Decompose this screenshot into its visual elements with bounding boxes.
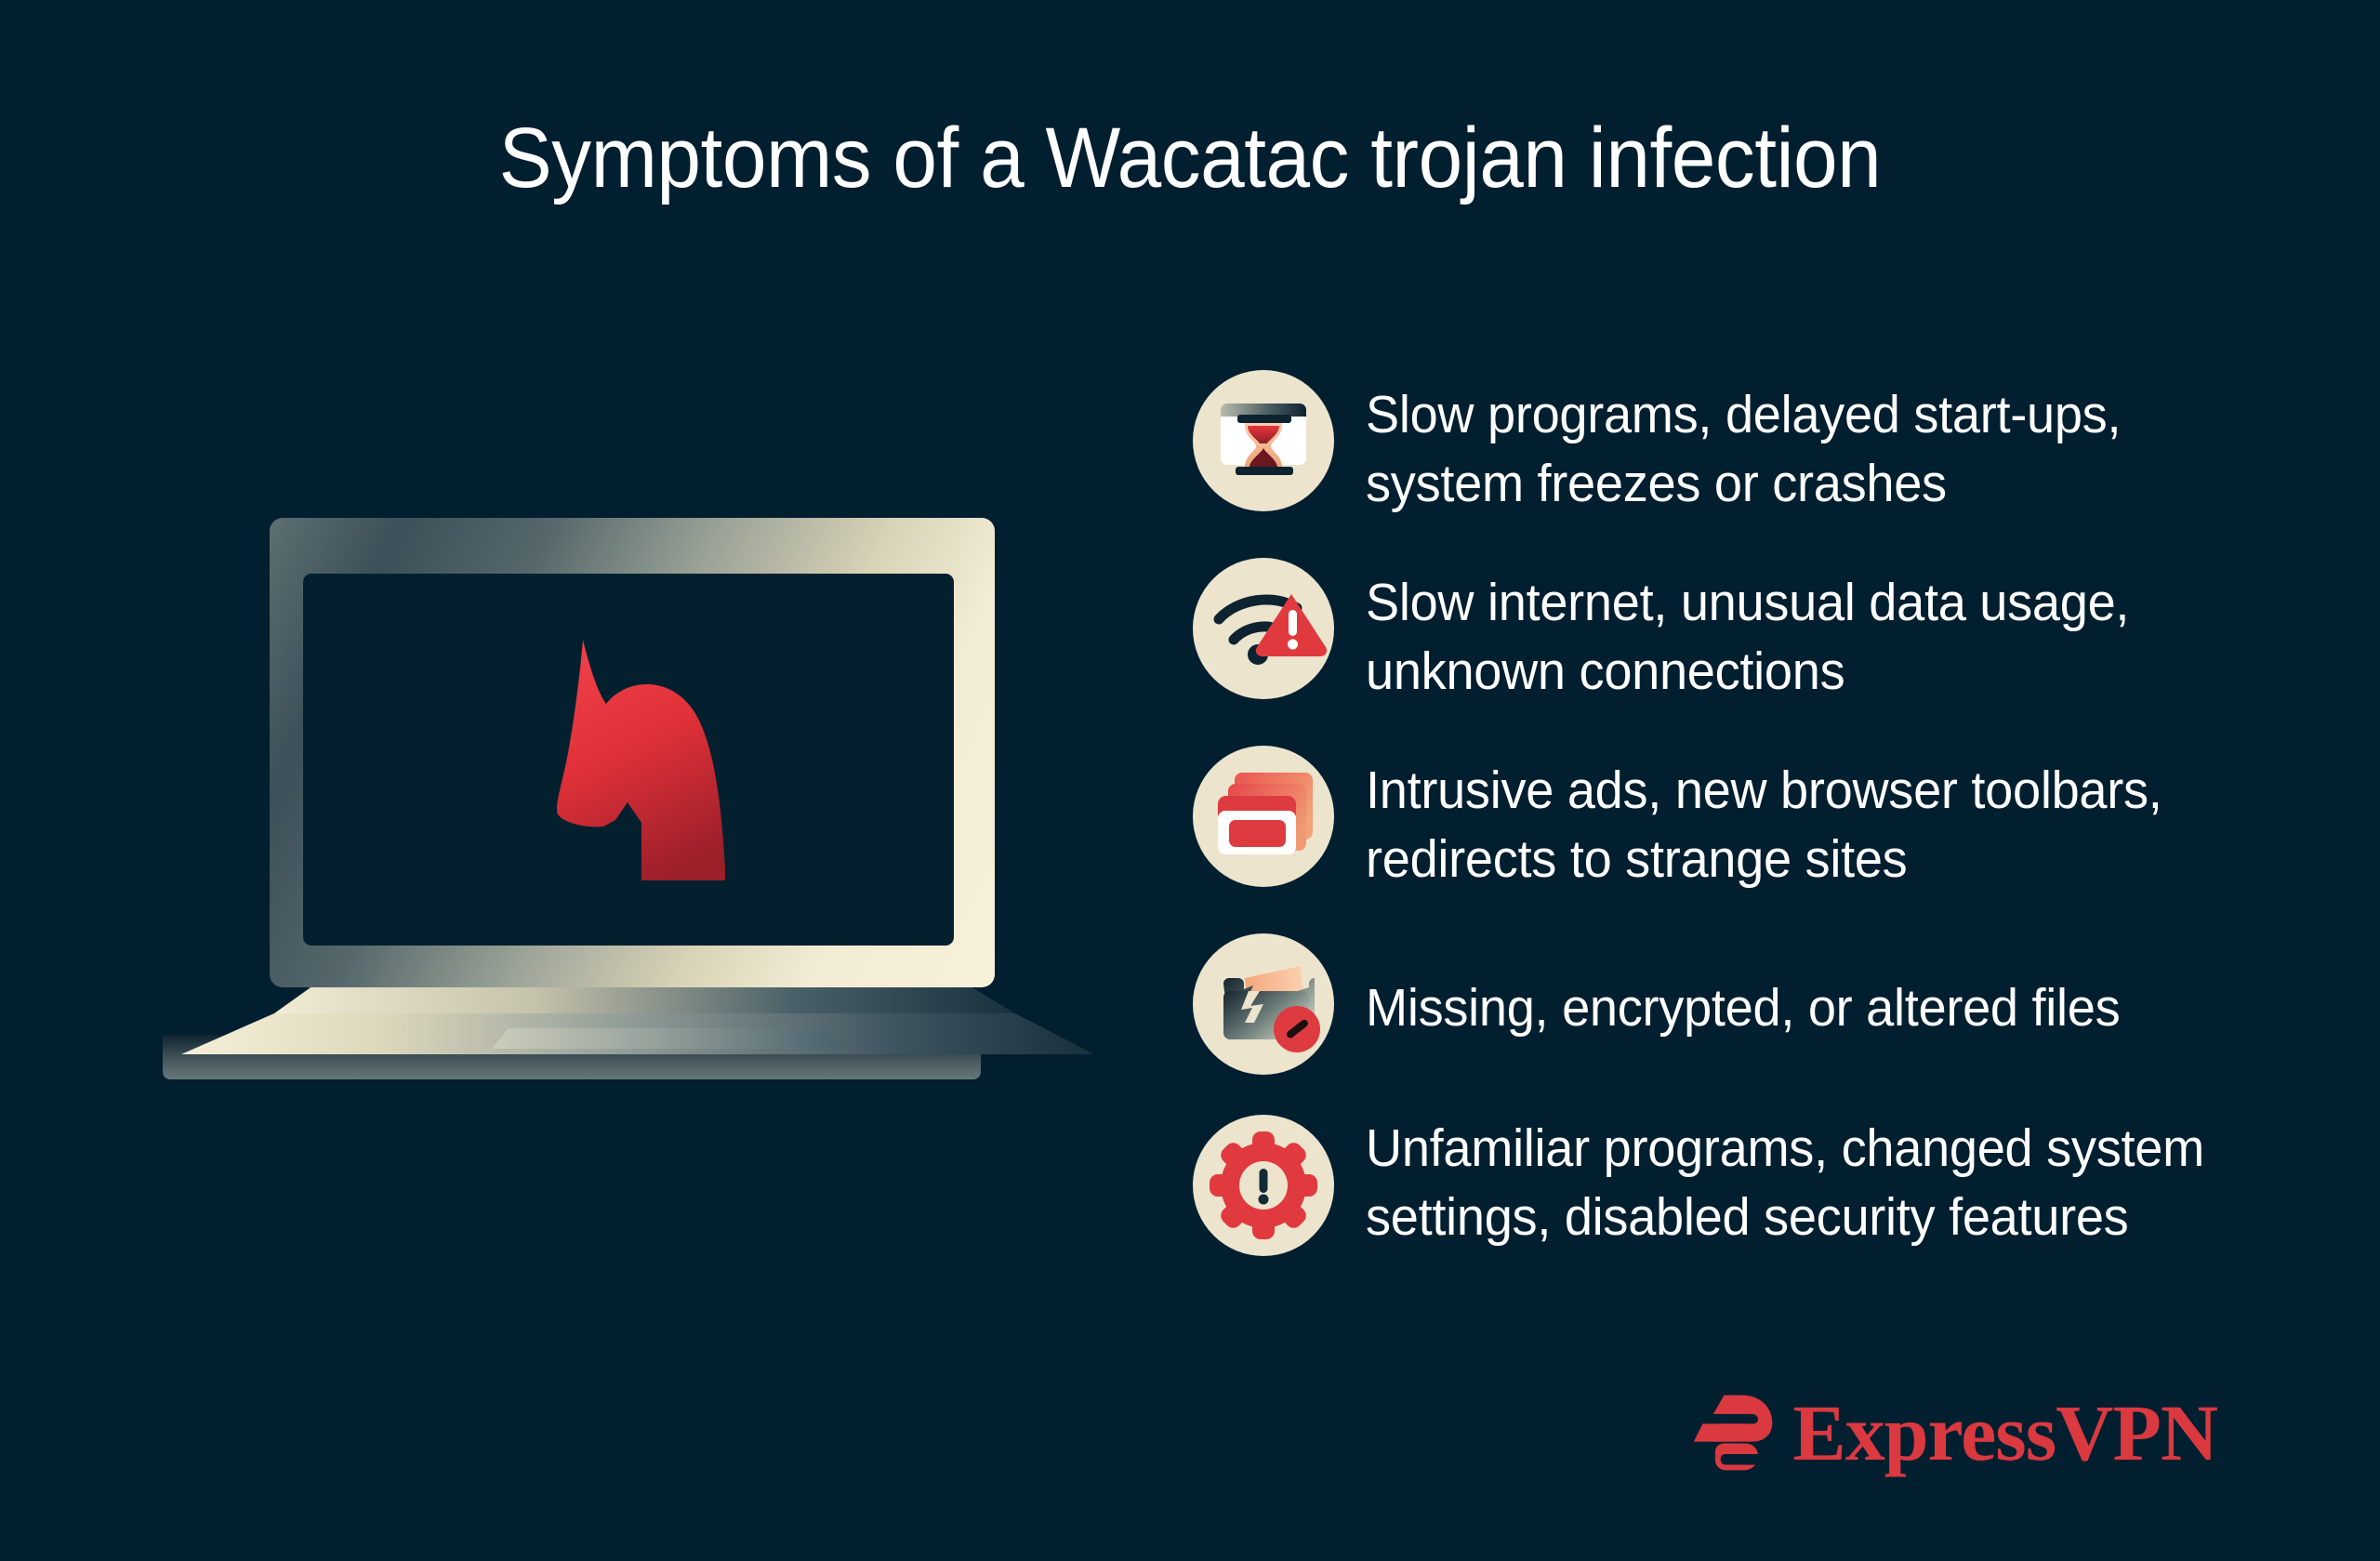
laptop-keyboard-deck (174, 986, 1094, 1055)
list-item-label: Slow programs, delayed start-ups, system… (1366, 370, 2243, 518)
gear-alert-icon (1193, 1115, 1334, 1256)
list-item: Intrusive ads, new browser toolbars, red… (1193, 746, 2290, 893)
laptop-screen (303, 574, 954, 946)
list-item: Slow internet, unusual data usage, unkno… (1193, 558, 2290, 706)
list-item-label: Missing, encrypted, or altered files (1366, 933, 2120, 1043)
list-item: Unfamiliar programs, changed system sett… (1193, 1115, 2290, 1256)
wifi-warning-icon (1193, 558, 1334, 699)
infographic-canvas: Symptoms of a Wacatac trojan infection (0, 0, 2380, 1561)
laptop-illustration (153, 507, 1130, 1111)
list-item: Slow programs, delayed start-ups, system… (1193, 370, 2290, 518)
broken-folder-blocked-icon (1193, 933, 1334, 1075)
list-item-label: Intrusive ads, new browser toolbars, red… (1366, 746, 2243, 893)
trojan-horse-head-icon (506, 637, 766, 883)
list-item-label: Unfamiliar programs, changed system sett… (1366, 1115, 2243, 1251)
expressvpn-wordmark: ExpressVPN (1792, 1393, 2217, 1473)
stacked-popup-windows-icon (1193, 746, 1334, 887)
page-title: Symptoms of a Wacatac trojan infection (84, 112, 2297, 205)
expressvpn-logo[interactable]: ExpressVPN (1690, 1388, 2217, 1477)
expressvpn-e-mark-icon (1690, 1388, 1779, 1477)
symptom-list: Slow programs, delayed start-ups, system… (1193, 370, 2290, 1296)
list-item-label: Slow internet, unusual data usage, unkno… (1366, 558, 2243, 706)
list-item: Missing, encrypted, or altered files (1193, 933, 2290, 1075)
laptop-lid (270, 518, 995, 987)
hourglass-window-icon (1193, 370, 1334, 511)
